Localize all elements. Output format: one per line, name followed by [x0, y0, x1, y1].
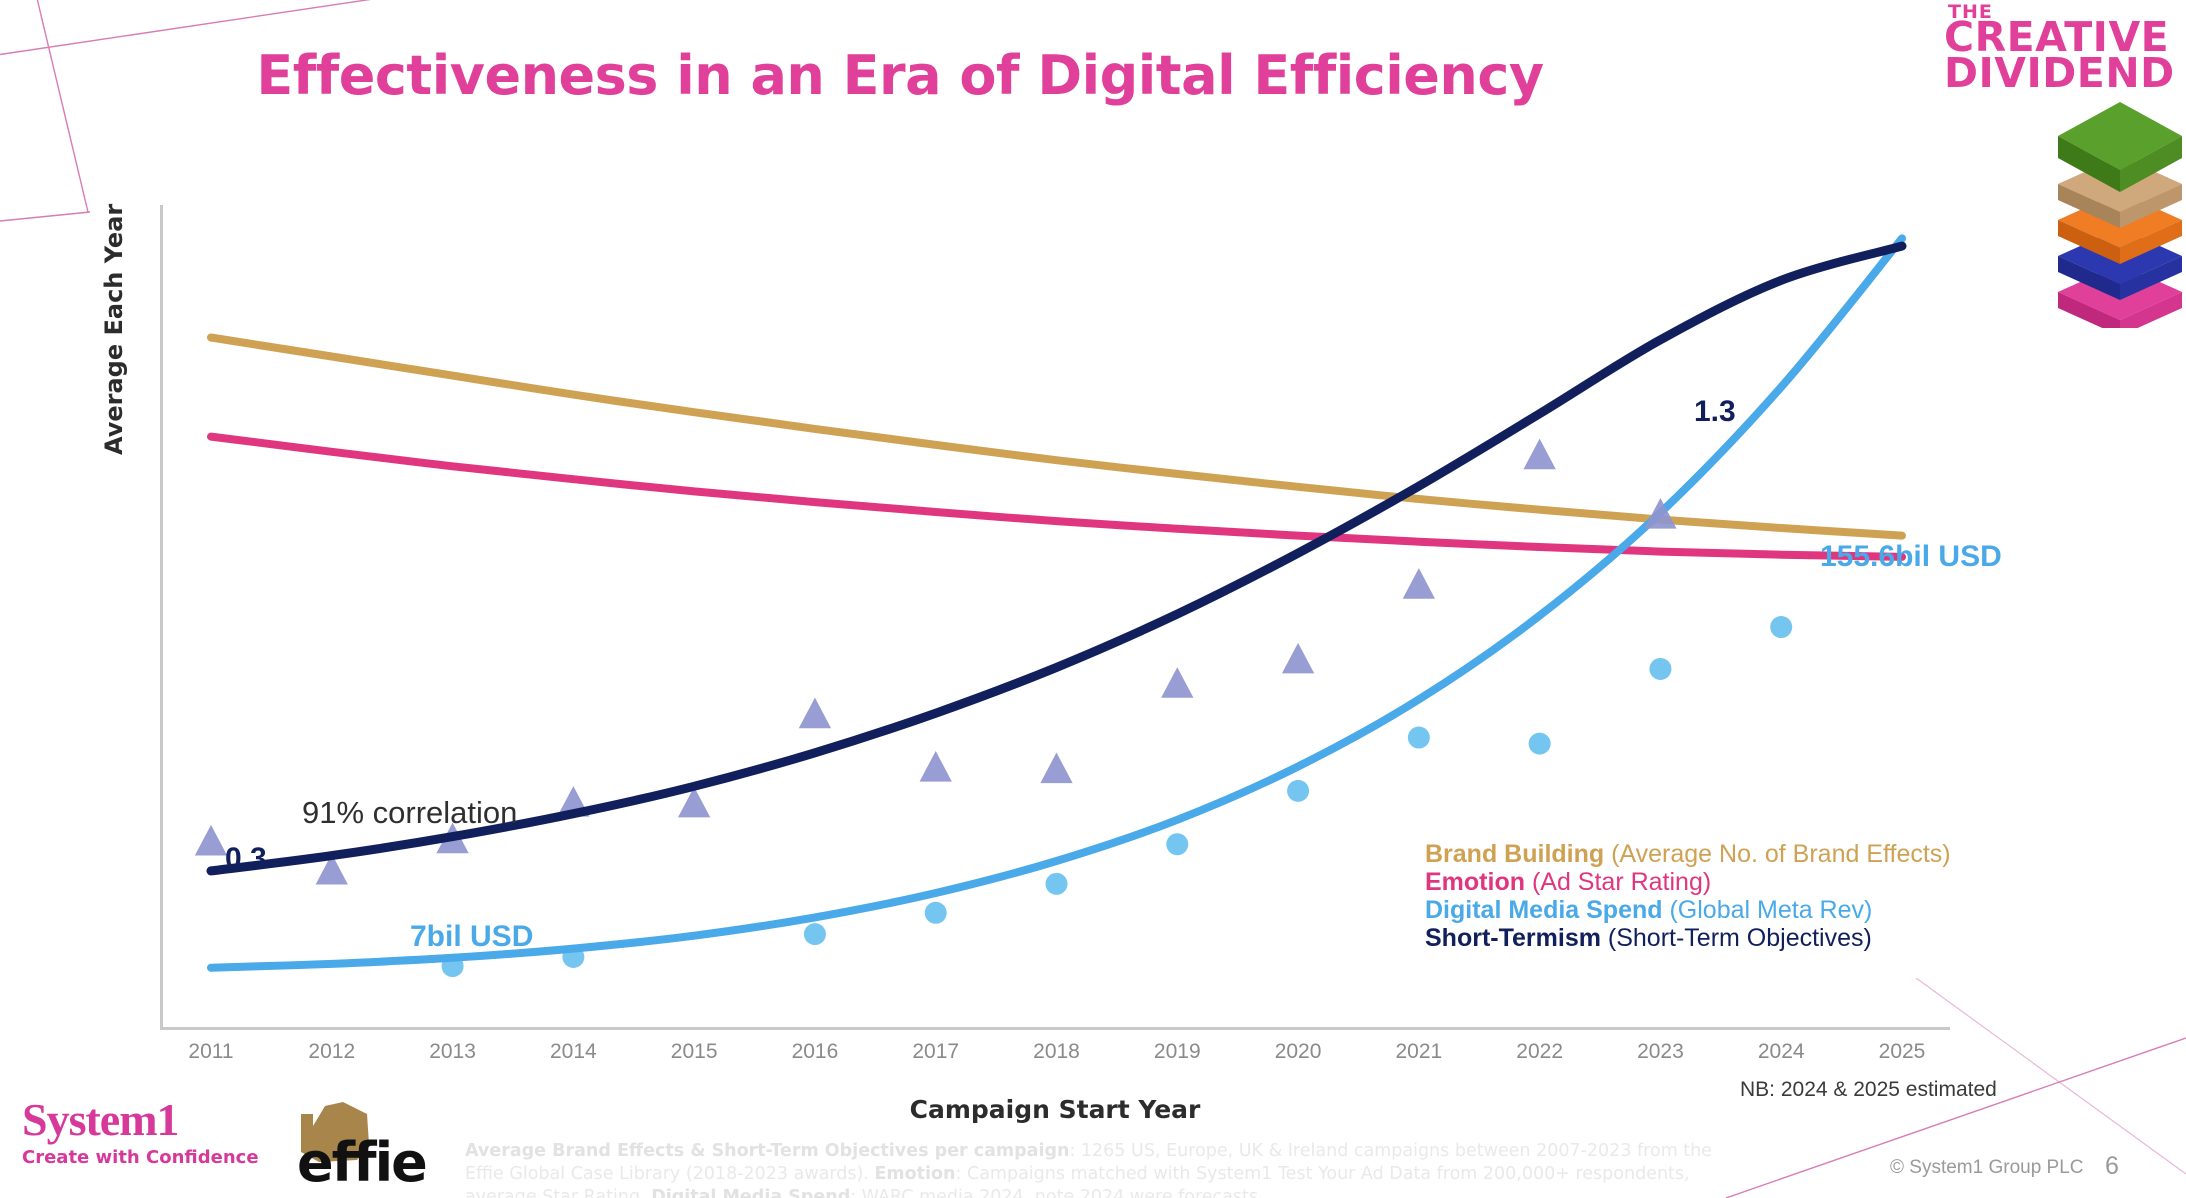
legend-series-name: Brand Building — [1425, 840, 1604, 868]
x-tick-2025: 2025 — [1879, 1040, 1926, 1064]
effie-wordmark: effie — [297, 1136, 426, 1190]
copyright-text: © System1 Group PLC — [1890, 1157, 2084, 1179]
legend-series-name: Short-Termism — [1425, 924, 1601, 952]
y-axis-label: Average Each Year — [100, 204, 128, 455]
data-point-triangle — [1040, 753, 1072, 784]
x-tick-2023: 2023 — [1637, 1040, 1684, 1064]
x-axis-ticks: 2011201220132014201520162017201820192020… — [163, 1040, 1950, 1070]
data-point-circle — [804, 923, 826, 945]
data-point-circle — [1529, 733, 1551, 755]
x-tick-2016: 2016 — [792, 1040, 839, 1064]
stacked-blocks-graphic — [2054, 78, 2186, 328]
x-tick-2011: 2011 — [188, 1040, 233, 1064]
nb-note: NB: 2024 & 2025 estimated — [1740, 1078, 1997, 1102]
x-tick-2021: 2021 — [1395, 1040, 1442, 1064]
slide: THE CREATIVE DIVIDEND E — [0, 0, 2186, 1198]
data-point-triangle — [1282, 643, 1314, 674]
annotation-digital-end: 155.6bil USD — [1820, 540, 2002, 574]
page-number: 6 — [2105, 1152, 2119, 1181]
footnote-label: Average Brand Effects & Short-Term Objec… — [465, 1141, 1069, 1161]
trendline — [211, 338, 1902, 536]
data-point-circle — [925, 902, 947, 924]
annotation-digital-start: 7bil USD — [410, 920, 533, 954]
data-point-circle — [1166, 833, 1188, 855]
data-point-triangle — [1403, 568, 1435, 599]
x-tick-2018: 2018 — [1033, 1040, 1080, 1064]
chart-legend: Brand Building (Average No. of Brand Eff… — [1425, 840, 1951, 952]
legend-series-name: Digital Media Spend — [1425, 896, 1663, 924]
system1-tagline: Create with Confidence — [22, 1147, 259, 1168]
footnote: Average Brand Effects & Short-Term Objec… — [465, 1140, 1715, 1198]
footnote-line-1: Average Brand Effects & Short-Term Objec… — [465, 1140, 1715, 1163]
legend-series-detail: (Global Meta Rev) — [1663, 896, 1873, 924]
legend-series-name: Emotion — [1425, 868, 1525, 896]
x-tick-2024: 2024 — [1758, 1040, 1805, 1064]
annotation-short-term-end: 1.3 — [1694, 395, 1736, 429]
footnote-label: Digital Media Spend — [651, 1187, 850, 1198]
data-point-circle — [1770, 616, 1792, 638]
logo-line-creative: CREATIVE — [1944, 20, 2134, 55]
x-tick-2014: 2014 — [550, 1040, 597, 1064]
legend-series-detail: (Short-Term Objectives) — [1601, 924, 1872, 952]
legend-item-brand-building: Brand Building (Average No. of Brand Eff… — [1425, 840, 1951, 868]
x-tick-2015: 2015 — [671, 1040, 718, 1064]
system1-logo: System1 Create with Confidence — [22, 1097, 259, 1168]
data-point-triangle — [1161, 667, 1193, 698]
legend-item-digital-media-spend: Digital Media Spend (Global Meta Rev) — [1425, 896, 1951, 924]
x-tick-2012: 2012 — [308, 1040, 355, 1064]
x-tick-2022: 2022 — [1516, 1040, 1563, 1064]
x-tick-2017: 2017 — [912, 1040, 959, 1064]
effie-logo: effie — [283, 1100, 433, 1185]
legend-series-detail: (Ad Star Rating) — [1525, 868, 1711, 896]
series-brand-building — [211, 338, 1902, 536]
legend-item-emotion: Emotion (Ad Star Rating) — [1425, 868, 1951, 896]
series-emotion — [211, 437, 1902, 557]
legend-item-short-termism: Short-Termism (Short-Term Objectives) — [1425, 924, 1951, 952]
data-point-triangle — [195, 825, 227, 856]
footnote-line-3: average Star Rating. Digital Media Spend… — [465, 1186, 1715, 1198]
x-tick-2019: 2019 — [1154, 1040, 1201, 1064]
x-tick-2020: 2020 — [1275, 1040, 1322, 1064]
x-axis-line — [160, 1027, 1950, 1030]
footnote-label: Emotion — [874, 1164, 955, 1184]
data-point-circle — [1649, 658, 1671, 680]
x-tick-2013: 2013 — [429, 1040, 476, 1064]
data-point-triangle — [920, 751, 952, 782]
data-point-circle — [1046, 873, 1068, 895]
system1-wordmark: System1 — [22, 1097, 259, 1143]
annotation-correlation: 91% correlation — [302, 795, 517, 831]
data-point-triangle — [799, 698, 831, 729]
data-point-triangle — [1523, 439, 1555, 470]
series-short-termism — [195, 246, 1902, 884]
legend-series-detail: (Average No. of Brand Effects) — [1604, 840, 1950, 868]
annotation-short-term-start: 0.3 — [225, 842, 267, 876]
data-point-circle — [1408, 727, 1430, 749]
data-point-circle — [1287, 780, 1309, 802]
page-title: Effectiveness in an Era of Digital Effic… — [0, 44, 1800, 107]
footnote-line-2: Effie Global Case Library (2018-2023 awa… — [465, 1163, 1715, 1186]
trendline — [211, 437, 1902, 557]
